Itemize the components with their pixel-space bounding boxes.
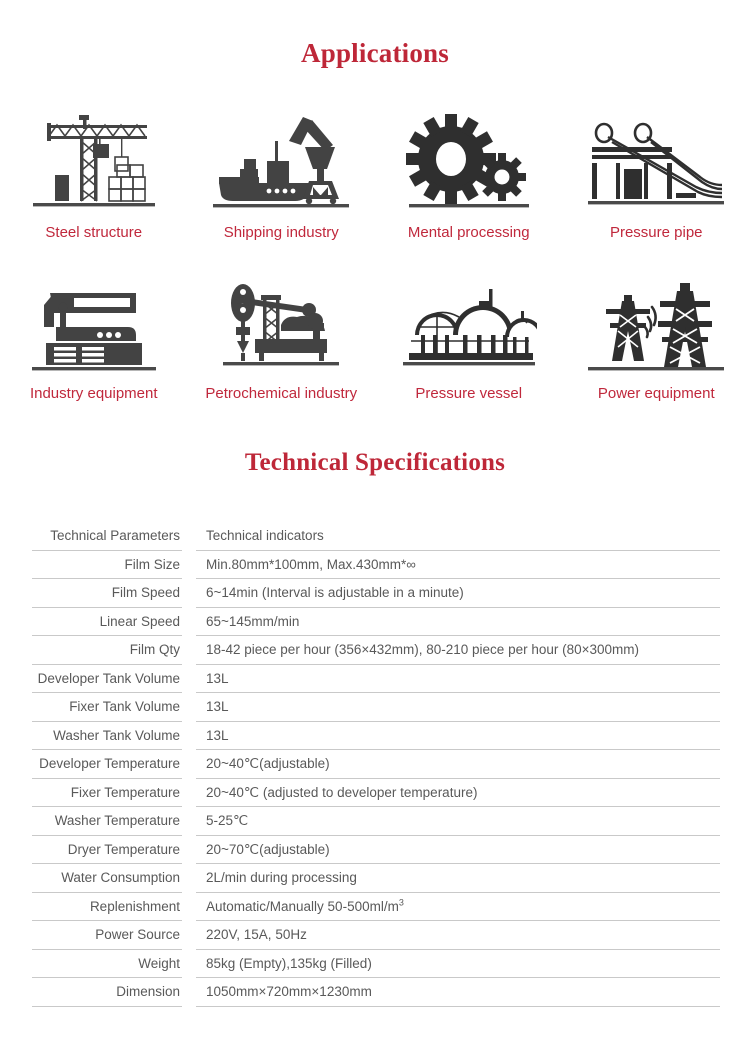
column-gap (182, 665, 196, 694)
application-item-power-equipment[interactable]: Power equipment (563, 268, 750, 403)
spec-key: Fixer Temperature (32, 779, 182, 808)
spec-key: Dryer Temperature (32, 836, 182, 865)
table-header-row: Technical Parameters Technical indicator… (32, 524, 720, 551)
power-pylons-icon (581, 268, 731, 373)
spherical-tanks-icon (394, 268, 544, 373)
spec-value: 6~14min (Interval is adjustable in a min… (196, 579, 720, 608)
spec-value: Min.80mm*100mm, Max.430mm*∞ (196, 551, 720, 580)
table-row: Developer Temperature 20~40℃(adjustable) (32, 750, 720, 779)
table-row: Developer Tank Volume 13L (32, 665, 720, 694)
table-row: Power Source 220V, 15A, 50Hz (32, 921, 720, 950)
table-row: Fixer Temperature 20~40℃ (adjusted to de… (32, 779, 720, 808)
spec-key: Developer Temperature (32, 750, 182, 779)
cargo-ship-crane-icon (206, 108, 356, 213)
spec-key: Water Consumption (32, 864, 182, 893)
spec-value: 1050mm×720mm×1230mm (196, 978, 720, 1007)
column-gap (182, 750, 196, 779)
application-item-petrochemical-industry[interactable]: Petrochemical industry (188, 268, 376, 403)
column-gap (182, 722, 196, 751)
table-header-indicator: Technical indicators (196, 524, 720, 551)
table-row: Film Qty 18-42 piece per hour (356×432mm… (32, 636, 720, 665)
spec-value: 13L (196, 722, 720, 751)
table-row: Film Size Min.80mm*100mm, Max.430mm*∞ (32, 551, 720, 580)
spec-key: Developer Tank Volume (32, 665, 182, 694)
application-item-industry-equipment[interactable]: Industry equipment (0, 268, 188, 403)
column-gap (182, 864, 196, 893)
applications-grid: Steel structure (0, 108, 750, 403)
column-gap (182, 636, 196, 665)
spec-value: 20~70℃(adjustable) (196, 836, 720, 865)
column-gap (182, 779, 196, 808)
spec-key: Fixer Tank Volume (32, 693, 182, 722)
table-row: Fixer Tank Volume 13L (32, 693, 720, 722)
column-gap (182, 836, 196, 865)
application-item-steel-structure[interactable]: Steel structure (0, 108, 188, 242)
technical-specifications-heading: Technical Specifications (0, 449, 750, 477)
table-row: Water Consumption 2L/min during processi… (32, 864, 720, 893)
application-label: Industry equipment (30, 385, 158, 403)
column-gap (182, 579, 196, 608)
spec-value: 5-25℃ (196, 807, 720, 836)
spec-value: 13L (196, 693, 720, 722)
application-label: Pressure vessel (415, 385, 522, 403)
spec-key: Replenishment (32, 893, 182, 922)
table-row: Weight 85kg (Empty),135kg (Filled) (32, 950, 720, 979)
column-gap (182, 524, 196, 551)
spec-key: Dimension (32, 978, 182, 1007)
table-row: Dryer Temperature 20~70℃(adjustable) (32, 836, 720, 865)
spec-value: 2L/min during processing (196, 864, 720, 893)
spec-value: 20~40℃(adjustable) (196, 750, 720, 779)
gears-icon (394, 108, 544, 213)
column-gap (182, 893, 196, 922)
spec-key: Film Speed (32, 579, 182, 608)
column-gap (182, 693, 196, 722)
applications-row: Steel structure (0, 108, 750, 242)
application-item-mental-processing[interactable]: Mental processing (375, 108, 563, 242)
application-label: Steel structure (45, 224, 142, 242)
table-row: Film Speed 6~14min (Interval is adjustab… (32, 579, 720, 608)
technical-specifications-table: Technical Parameters Technical indicator… (32, 524, 720, 1007)
spec-value: 85kg (Empty),135kg (Filled) (196, 950, 720, 979)
spec-key: Washer Temperature (32, 807, 182, 836)
applications-row: Industry equipment (0, 268, 750, 403)
application-label: Power equipment (598, 385, 715, 403)
spec-value: 20~40℃ (adjusted to developer temperatur… (196, 779, 720, 808)
application-item-pressure-vessel[interactable]: Pressure vessel (375, 268, 563, 403)
table-row: Replenishment Automatic/Manually 50-500m… (32, 893, 720, 922)
table-header-parameter: Technical Parameters (32, 524, 182, 551)
industrial-machine-icon (19, 268, 169, 373)
pipe-factory-icon (581, 108, 731, 213)
spec-value: 65~145mm/min (196, 608, 720, 637)
column-gap (182, 551, 196, 580)
spec-value: 220V, 15A, 50Hz (196, 921, 720, 950)
column-gap (182, 608, 196, 637)
column-gap (182, 807, 196, 836)
spec-key: Linear Speed (32, 608, 182, 637)
column-gap (182, 921, 196, 950)
oil-pumpjack-icon (206, 268, 356, 373)
table-row: Dimension 1050mm×720mm×1230mm (32, 978, 720, 1007)
table-row: Washer Tank Volume 13L (32, 722, 720, 751)
spec-value: Automatic/Manually 50-500ml/m3 (196, 893, 720, 922)
table-row: Washer Temperature 5-25℃ (32, 807, 720, 836)
application-item-shipping-industry[interactable]: Shipping industry (188, 108, 376, 242)
spec-value: 13L (196, 665, 720, 694)
spec-key: Power Source (32, 921, 182, 950)
spec-key: Film Qty (32, 636, 182, 665)
spec-key: Weight (32, 950, 182, 979)
application-label: Mental processing (408, 224, 530, 242)
application-item-pressure-pipe[interactable]: Pressure pipe (563, 108, 750, 242)
spec-key: Film Size (32, 551, 182, 580)
applications-heading: Applications (0, 38, 750, 69)
spec-key: Washer Tank Volume (32, 722, 182, 751)
spec-value: 18-42 piece per hour (356×432mm), 80-210… (196, 636, 720, 665)
application-label: Pressure pipe (610, 224, 703, 242)
table-row: Linear Speed 65~145mm/min (32, 608, 720, 637)
application-label: Petrochemical industry (205, 385, 357, 403)
tower-crane-icon (19, 108, 169, 213)
application-label: Shipping industry (224, 224, 339, 242)
column-gap (182, 950, 196, 979)
column-gap (182, 978, 196, 1007)
